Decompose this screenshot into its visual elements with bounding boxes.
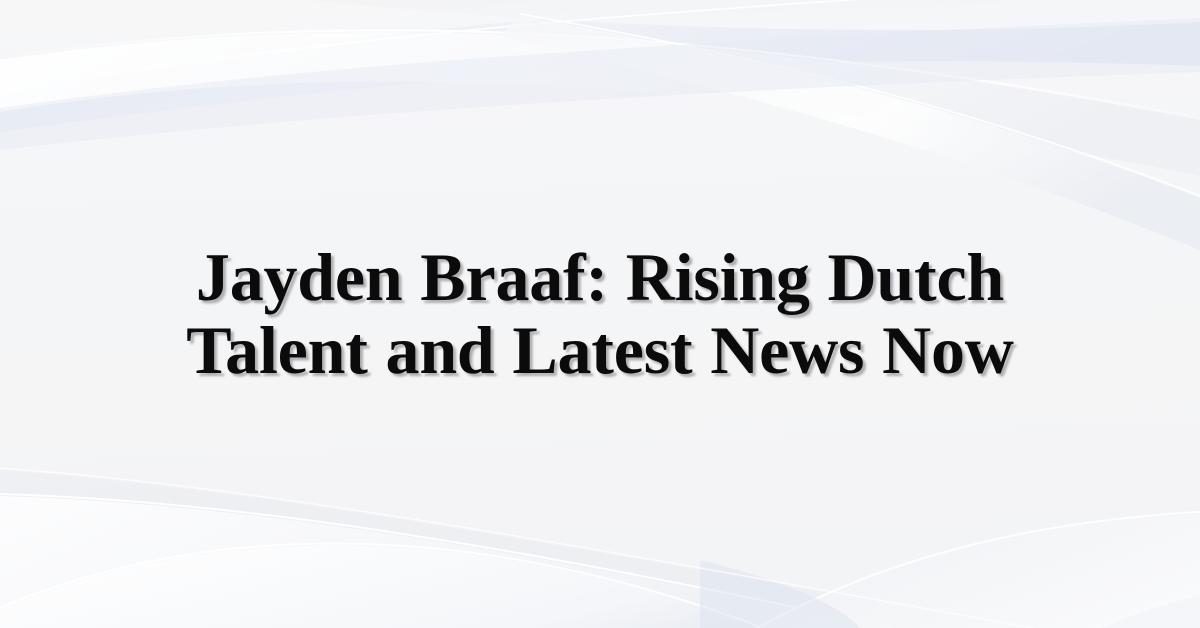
title-container: Jayden Braaf: Rising Dutch Talent and La… xyxy=(0,0,1200,628)
page-title: Jayden Braaf: Rising Dutch Talent and La… xyxy=(140,241,1060,387)
banner-card: Jayden Braaf: Rising Dutch Talent and La… xyxy=(0,0,1200,628)
